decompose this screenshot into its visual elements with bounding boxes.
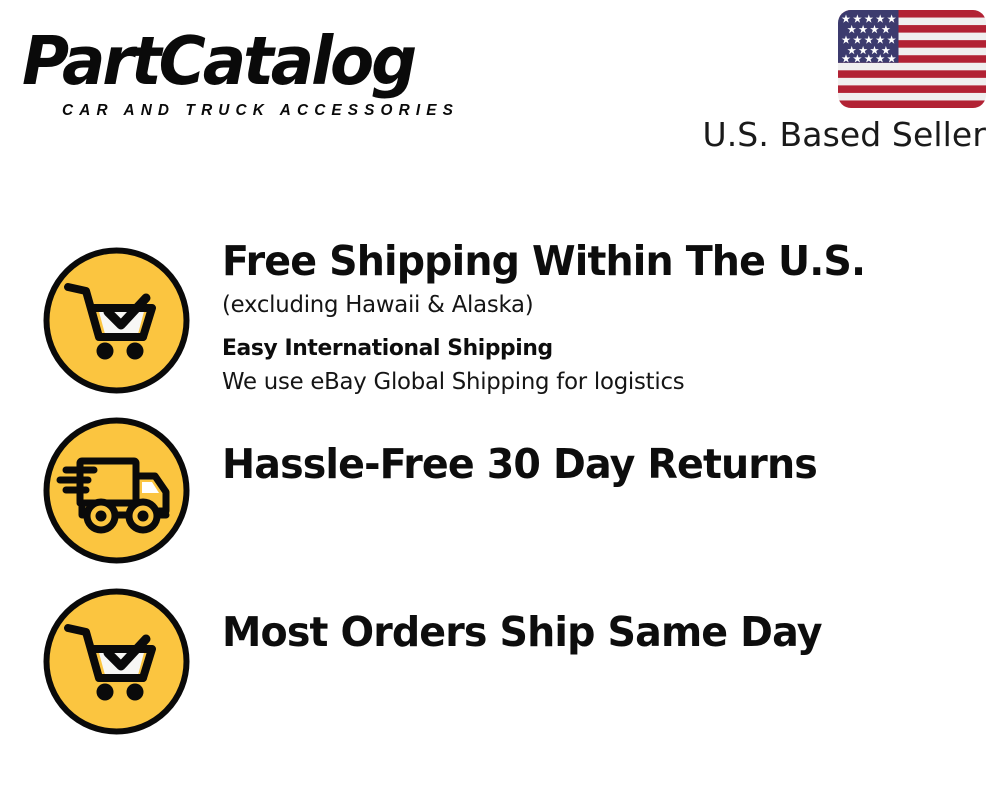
us-flag-icon bbox=[838, 10, 986, 108]
feature-subtitle: (excluding Hawaii & Alaska) bbox=[222, 288, 959, 321]
us-based-seller-badge: U.S. Based Seller bbox=[711, 10, 986, 160]
feature-text: Most Orders Ship Same Day bbox=[222, 607, 982, 657]
feature-row: Hassle-Free 30 Day Returns bbox=[0, 404, 1000, 576]
feature-text: Free Shipping Within The U.S. (excluding… bbox=[222, 236, 982, 398]
feature-title: Free Shipping Within The U.S. bbox=[222, 236, 955, 286]
brand-logo[interactable]: PartCatalog CAR AND TRUCK ACCESSORIES bbox=[22, 22, 492, 117]
feature-text: Hassle-Free 30 Day Returns bbox=[222, 439, 982, 489]
delivery-truck-icon bbox=[42, 416, 191, 565]
seller-label: U.S. Based Seller bbox=[702, 115, 986, 155]
feature-row: Free Shipping Within The U.S. (excluding… bbox=[0, 232, 1000, 414]
logo-tagline: CAR AND TRUCK ACCESSORIES bbox=[62, 102, 459, 120]
feature-subtitle-strong: Easy International Shipping bbox=[222, 331, 959, 365]
feature-row: Most Orders Ship Same Day bbox=[0, 575, 1000, 747]
shopping-cart-check-icon bbox=[42, 246, 191, 395]
shopping-cart-check-icon bbox=[42, 587, 191, 736]
feature-subtitle-secondary: We use eBay Global Shipping for logistic… bbox=[222, 365, 959, 398]
feature-title: Most Orders Ship Same Day bbox=[222, 607, 955, 657]
page-header: PartCatalog CAR AND TRUCK ACCESSORIES bbox=[0, 0, 1000, 175]
logo-wordmark: PartCatalog bbox=[22, 20, 414, 102]
feature-title: Hassle-Free 30 Day Returns bbox=[222, 439, 955, 489]
